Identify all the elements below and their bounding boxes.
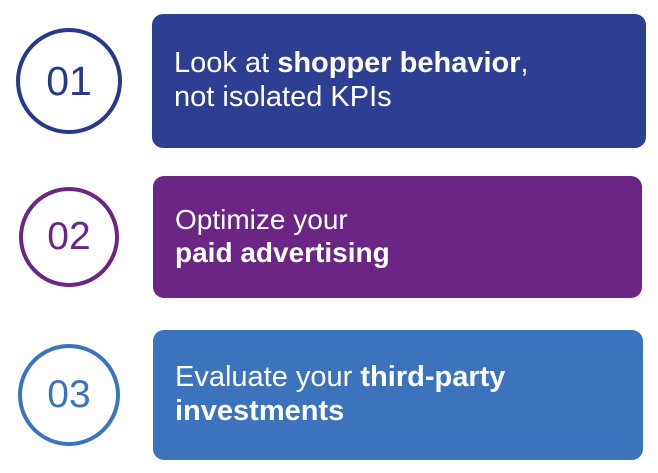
step-text-line-1a: Look at shopper behavior, (174, 47, 624, 81)
step-row-3: 03 Evaluate your third-party investments (0, 330, 658, 460)
step-text-line-1b: not isolated KPIs (174, 81, 624, 115)
step-row-1: 01 Look at shopper behavior, not isolate… (0, 14, 658, 148)
step-text-line-3a: Evaluate your third-party (175, 361, 621, 395)
step-text-line-3b: investments (175, 395, 621, 429)
step-panel-2: Optimize your paid advertising (153, 176, 642, 298)
step-text-2a-pre: Optimize your (175, 204, 348, 235)
step-row-2: 02 Optimize your paid advertising (0, 176, 658, 298)
step-text-line-2a: Optimize your (175, 204, 620, 237)
step-text-1a-post: , (521, 47, 529, 79)
step-number-label-3: 03 (47, 373, 90, 417)
step-text-1b-pre: not isolated KPIs (174, 81, 392, 113)
step-number-badge-1: 01 (16, 28, 122, 134)
step-text-2b-bold: paid advertising (175, 237, 390, 268)
step-number-label-1: 01 (46, 58, 92, 105)
step-panel-1: Look at shopper behavior, not isolated K… (152, 14, 646, 148)
step-number-badge-3: 03 (18, 344, 120, 446)
step-text-line-2b: paid advertising (175, 237, 620, 270)
step-text-1a-bold: shopper behavior (277, 47, 520, 79)
step-panel-3: Evaluate your third-party investments (153, 330, 643, 460)
steps-diagram: 01 Look at shopper behavior, not isolate… (0, 0, 658, 473)
step-number-label-2: 02 (47, 215, 90, 259)
step-text-3b-bold: investments (175, 395, 344, 427)
step-text-3a-pre: Evaluate your (175, 361, 360, 393)
step-number-badge-2: 02 (19, 187, 119, 287)
step-text-3a-bold: third-party (360, 361, 505, 393)
step-text-1a-pre: Look at (174, 47, 277, 79)
